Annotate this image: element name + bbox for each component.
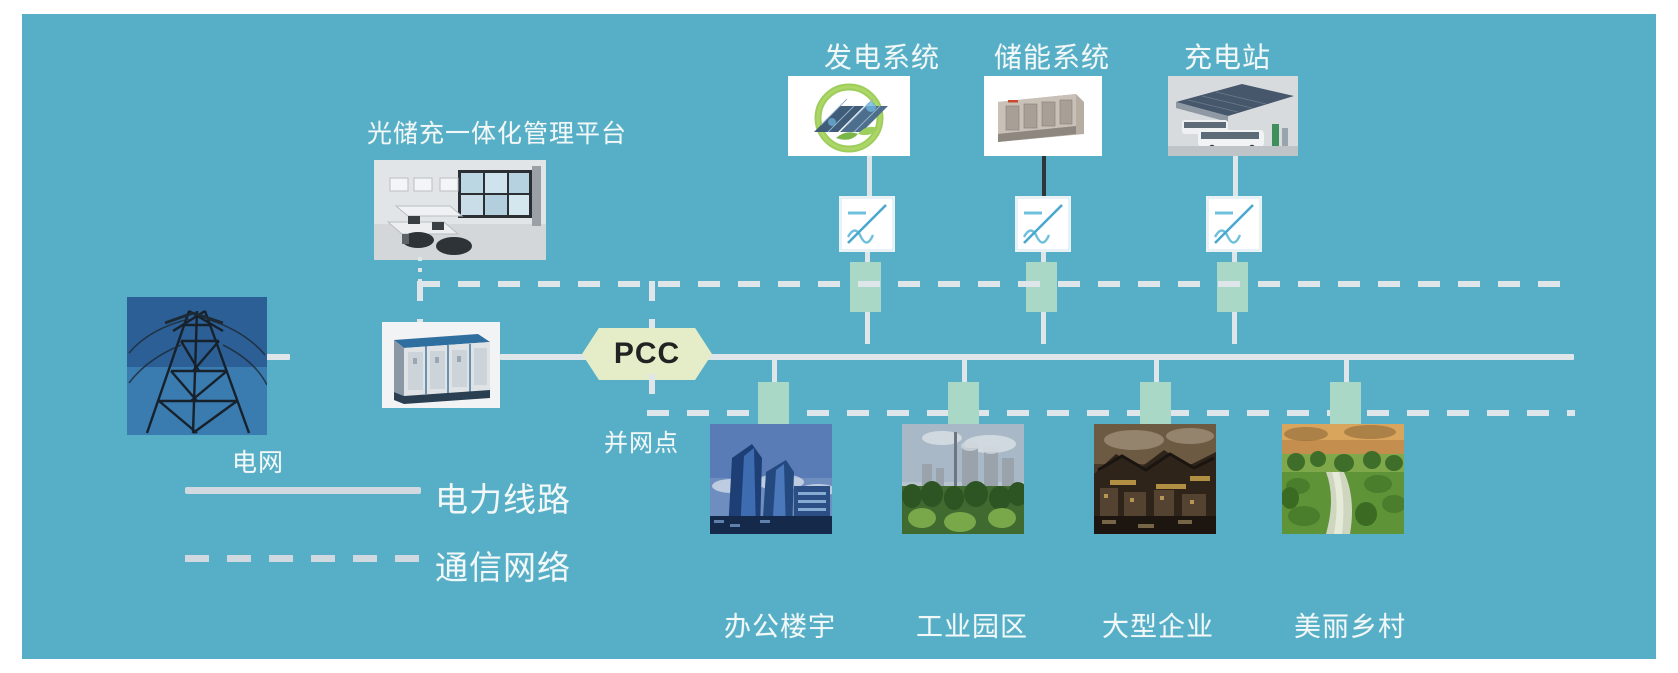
label-management-platform: 光储充一体化管理平台 (367, 114, 627, 150)
line-charging-to-inverter (1233, 156, 1238, 198)
label-load-office: 办公楼宇 (724, 605, 836, 644)
pcc-sub-label: 并网点 (604, 423, 679, 458)
power-busbar-main (692, 354, 1574, 360)
photo-beautiful-village (1282, 424, 1404, 534)
comm-connector-storage (1026, 262, 1057, 312)
label-load-enterprise: 大型企业 (1102, 605, 1214, 644)
photo-substation (382, 322, 500, 408)
comm-connector-generation (850, 262, 881, 312)
comm-dotted-platform-link (418, 257, 422, 283)
label-load-village: 美丽乡村 (1294, 605, 1406, 644)
photo-battery-container (984, 76, 1102, 156)
photo-solar-pv (788, 76, 910, 156)
legend-label-comm-network: 通信网络 (435, 541, 571, 589)
comm-riser-pcc-lower (649, 374, 655, 414)
label-power-grid: 电网 (232, 443, 284, 479)
pcc-node[interactable]: PCC (582, 328, 712, 380)
label-storage-system: 储能系统 (994, 36, 1110, 76)
legend-swatch-power-line (185, 487, 421, 494)
legend-label-power-line: 电力线路 (435, 473, 571, 521)
photo-control-room (374, 160, 546, 260)
inverter-icon-storage (1015, 196, 1071, 252)
comm-connector-charging (1217, 262, 1248, 312)
photo-charging-station (1168, 76, 1298, 156)
photo-transmission-tower (127, 297, 267, 435)
label-generation-system: 发电系统 (824, 36, 940, 76)
line-generation-to-inverter (867, 156, 872, 198)
photo-large-enterprise (1094, 424, 1216, 534)
photo-office-buildings (710, 424, 832, 534)
line-storage-to-inverter (1042, 156, 1046, 198)
label-charging-station: 充电站 (1184, 36, 1271, 76)
photo-industrial-park (902, 424, 1024, 534)
label-load-industry: 工业园区 (916, 605, 1028, 644)
inverter-icon-charging (1206, 196, 1262, 252)
inverter-icon-generation (839, 196, 895, 252)
comm-bus-upper (418, 281, 1574, 287)
legend-swatch-comm-network (185, 555, 421, 562)
pcc-label: PCC (614, 337, 680, 371)
diagram-canvas: 发电系统 储能系统 充电站 光储充一体化管理平台 (22, 14, 1656, 659)
